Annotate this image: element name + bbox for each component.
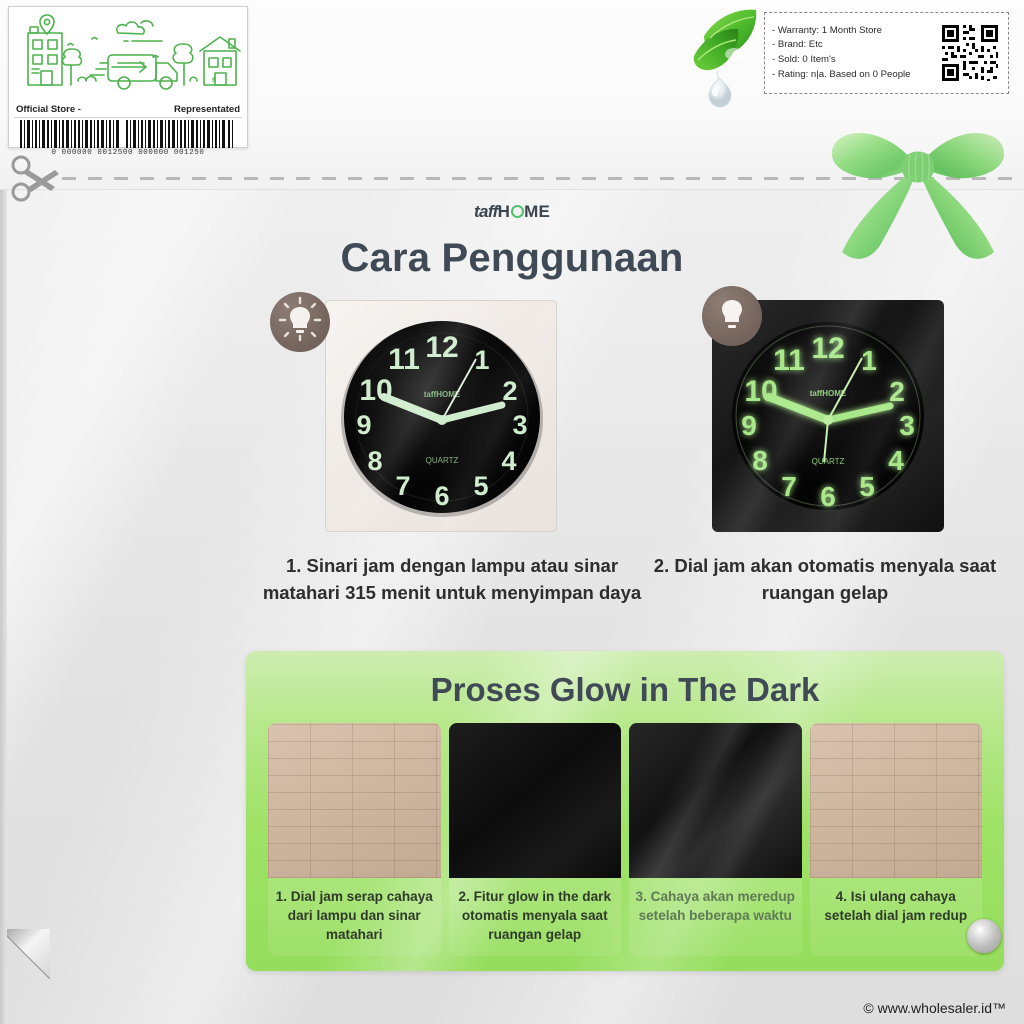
step-2-caption: 2. Dial jam akan otomatis menyala saat r… <box>630 552 1020 606</box>
barcode <box>14 120 242 150</box>
delivery-truck-city-illustration: ꠵ <box>14 11 242 103</box>
svg-text:1: 1 <box>861 345 877 376</box>
info-lines: - Warranty: 1 Month Store - Brand: Etc -… <box>772 24 939 82</box>
rating-line: - Rating: n|a. Based on 0 People <box>772 68 939 83</box>
glow-card-4-image: 12 1 2 3 4 5 6 7 8 9 10 11 <box>810 723 983 878</box>
svg-text:7: 7 <box>781 471 797 502</box>
glow-card-1-image: 12 1 2 3 4 5 6 7 8 9 10 11 <box>268 723 441 878</box>
warranty-line: - Warranty: 1 Month Store <box>772 24 939 39</box>
svg-text:2: 2 <box>889 376 905 407</box>
glow-card-1[interactable]: 12 1 2 3 4 5 6 7 8 9 10 11 <box>268 723 441 956</box>
svg-text:12: 12 <box>425 331 458 364</box>
light-bulb-off-icon <box>702 286 762 346</box>
step-1-photo: 12 1 2 3 4 5 6 7 8 9 10 11 <box>325 300 557 532</box>
page-title: Cara Penggunaan <box>0 236 1024 281</box>
svg-text:6: 6 <box>820 481 836 512</box>
page-curl <box>0 921 58 979</box>
svg-text:9: 9 <box>741 410 757 441</box>
svg-text:3: 3 <box>899 410 915 441</box>
glow-card-2-image: 12 1 2 3 4 5 6 7 8 9 10 11 <box>449 723 622 878</box>
svg-text:2: 2 <box>502 376 517 406</box>
wall-clock-light: 12 1 2 3 4 5 6 7 8 9 10 11 <box>326 301 557 532</box>
svg-text:10: 10 <box>744 375 777 408</box>
glow-card-2[interactable]: 12 1 2 3 4 5 6 7 8 9 10 11 <box>449 723 622 956</box>
step-1-caption: 1. Sinari jam dengan lampu atau sinar ma… <box>262 552 642 606</box>
brick-wall-background <box>268 723 441 878</box>
light-bulb-on-icon <box>270 292 330 352</box>
brand-line: - Brand: Etc <box>772 38 939 53</box>
brick-wall-background <box>810 723 983 878</box>
footer-copyright: © www.wholesaler.id™ <box>863 1000 1006 1016</box>
brand-logo: taffHME <box>0 202 1024 222</box>
leaf-water-drop-icon <box>686 4 766 109</box>
svg-text:9: 9 <box>356 410 371 440</box>
official-store-label: Official Store - <box>16 104 81 115</box>
brand-h: H <box>498 202 510 221</box>
glow-card-4-caption: 4. Isi ulang cahaya setelah dial jam red… <box>810 878 983 937</box>
svg-text:4: 4 <box>888 445 904 476</box>
glow-panel-title: Proses Glow in The Dark <box>246 671 1004 709</box>
glow-card-4[interactable]: 12 1 2 3 4 5 6 7 8 9 10 11 <box>810 723 983 956</box>
svg-text:12: 12 <box>811 332 844 365</box>
glow-card-1-caption: 1. Dial jam serap cahaya dari lampu dan … <box>268 878 441 956</box>
brand-taff: taff <box>474 202 498 221</box>
poster-canvas: ꠵ Official Store - Representated <box>0 0 1024 1024</box>
svg-text:QUARTZ: QUARTZ <box>812 457 845 466</box>
metal-knob[interactable] <box>967 919 1001 953</box>
svg-text:11: 11 <box>388 343 420 376</box>
svg-text:1: 1 <box>474 345 489 375</box>
glow-card-3[interactable]: 12 1 2 3 4 5 6 7 8 9 10 11 <box>629 723 802 956</box>
glow-process-panel: Proses Glow in The Dark 12 1 2 3 4 5 <box>246 651 1004 971</box>
brand-o-ring <box>511 205 524 218</box>
dark-room-background <box>449 723 622 878</box>
svg-text:8: 8 <box>752 445 768 476</box>
step-2-photo: 12 1 2 3 4 5 6 7 8 9 10 11 <box>712 300 944 532</box>
svg-text:4: 4 <box>501 446 516 476</box>
left-edge-shadow <box>0 190 7 1024</box>
dark-room-dim-background <box>629 723 802 878</box>
sold-line: - Sold: 0 Item's <box>772 53 939 68</box>
glow-card-3-image: 12 1 2 3 4 5 6 7 8 9 10 11 <box>629 723 802 878</box>
brand-me: ME <box>524 202 550 221</box>
svg-text:QUARTZ: QUARTZ <box>426 456 459 465</box>
representated-label: Representated <box>174 104 240 115</box>
svg-text:5: 5 <box>473 471 488 501</box>
svg-text:꠵: ꠵ <box>211 75 217 83</box>
product-info-box: - Warranty: 1 Month Store - Brand: Etc -… <box>764 12 1009 94</box>
usage-step-1: 12 1 2 3 4 5 6 7 8 9 10 11 <box>262 300 642 532</box>
svg-text:7: 7 <box>395 471 410 501</box>
svg-text:3: 3 <box>512 410 527 440</box>
official-store-card: ꠵ Official Store - Representated <box>8 6 248 148</box>
svg-text:5: 5 <box>859 471 875 502</box>
glow-card-3-caption: 3. Cahaya akan meredup setelah beberapa … <box>629 878 802 937</box>
svg-text:6: 6 <box>434 481 449 511</box>
scissors-icon <box>8 152 64 204</box>
qr-code-icon <box>939 22 1001 84</box>
glow-card-list: 12 1 2 3 4 5 6 7 8 9 10 11 <box>268 723 982 956</box>
svg-text:8: 8 <box>367 446 382 476</box>
usage-step-2: 12 1 2 3 4 5 6 7 8 9 10 11 <box>630 300 1020 532</box>
step-1-clock-frame: 12 1 2 3 4 5 6 7 8 9 10 11 <box>325 300 557 532</box>
glow-card-2-caption: 2. Fitur glow in the dark otomatis menya… <box>449 878 622 956</box>
store-strip: Official Store - Representated <box>14 103 242 118</box>
svg-text:11: 11 <box>773 344 805 377</box>
